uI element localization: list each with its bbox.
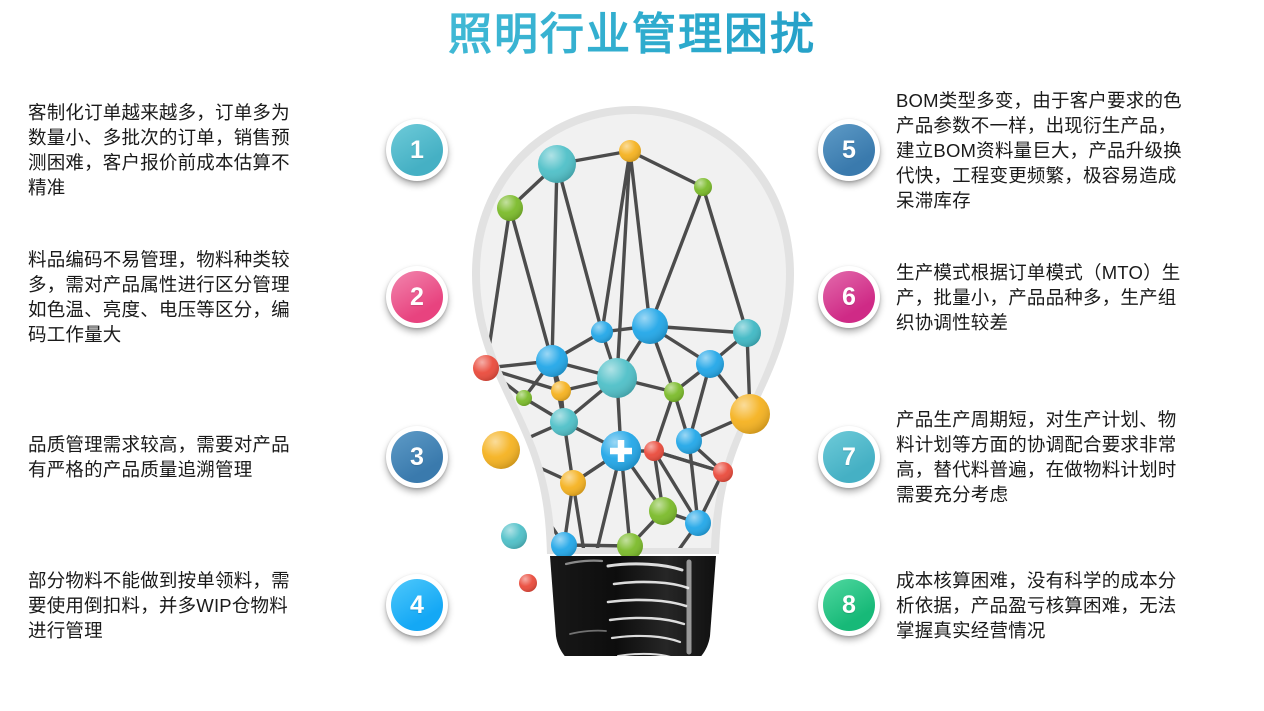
item-text: 生产模式根据订单模式（MTO）生 产，批量小，产品品种多，生产组 织协调性较差 xyxy=(880,260,1258,335)
number-badge-6[interactable]: 6 xyxy=(818,266,880,328)
list-item: 8 成本核算困难，没有科学的成本分 析依据，产品盈亏核算困难，无法 掌握真实经营… xyxy=(818,530,1258,680)
item-text: 成本核算困难，没有科学的成本分 析依据，产品盈亏核算困难，无法 掌握真实经营情况 xyxy=(880,568,1258,643)
number-badge-2[interactable]: 2 xyxy=(386,266,448,328)
number-badge-1[interactable]: 1 xyxy=(386,119,448,181)
badge-number: 2 xyxy=(391,271,443,323)
list-item: 料品编码不易管理，物料种类较 多，需对产品属性进行区分管理 如色温、亮度、电压等… xyxy=(28,222,448,372)
list-item: 5 BOM类型多变，由于客户要求的色 产品参数不一样，出现衍生产品， 建立BOM… xyxy=(818,75,1258,225)
item-text: 料品编码不易管理，物料种类较 多，需对产品属性进行区分管理 如色温、亮度、电压等… xyxy=(28,247,386,347)
list-item: 7 产品生产周期短，对生产计划、物 料计划等方面的协调配合要求非常 高，替代料普… xyxy=(818,382,1258,532)
list-item: 品质管理需求较高，需要对产品 有严格的产品质量追溯管理 3 xyxy=(28,382,448,532)
item-text: 品质管理需求较高，需要对产品 有严格的产品质量追溯管理 xyxy=(28,432,386,482)
lightbulb-svg xyxy=(458,96,808,656)
lightbulb-network-graphic xyxy=(458,96,808,656)
right-column: 5 BOM类型多变，由于客户要求的色 产品参数不一样，出现衍生产品， 建立BOM… xyxy=(818,0,1258,711)
badge-number: 4 xyxy=(391,579,443,631)
number-badge-4[interactable]: 4 xyxy=(386,574,448,636)
badge-number: 3 xyxy=(391,431,443,483)
badge-number: 7 xyxy=(823,431,875,483)
badge-number: 8 xyxy=(823,579,875,631)
list-item: 客制化订单越来越多，订单多为 数量小、多批次的订单，销售预 测困难，客户报价前成… xyxy=(28,75,448,225)
left-column: 客制化订单越来越多，订单多为 数量小、多批次的订单，销售预 测困难，客户报价前成… xyxy=(28,0,448,711)
bulb-screw-base xyxy=(550,556,716,656)
item-text: 部分物料不能做到按单领料，需 要使用倒扣料，并多WIP仓物料 进行管理 xyxy=(28,568,386,643)
number-badge-3[interactable]: 3 xyxy=(386,426,448,488)
number-badge-8[interactable]: 8 xyxy=(818,574,880,636)
badge-number: 6 xyxy=(823,271,875,323)
badge-number: 5 xyxy=(823,124,875,176)
item-text: 产品生产周期短，对生产计划、物 料计划等方面的协调配合要求非常 高，替代料普遍，… xyxy=(880,407,1258,507)
list-item: 6 生产模式根据订单模式（MTO）生 产，批量小，产品品种多，生产组 织协调性较… xyxy=(818,222,1258,372)
badge-number: 1 xyxy=(391,124,443,176)
item-text: 客制化订单越来越多，订单多为 数量小、多批次的订单，销售预 测困难，客户报价前成… xyxy=(28,100,386,200)
number-badge-7[interactable]: 7 xyxy=(818,426,880,488)
number-badge-5[interactable]: 5 xyxy=(818,119,880,181)
list-item: 部分物料不能做到按单领料，需 要使用倒扣料，并多WIP仓物料 进行管理 4 xyxy=(28,530,448,680)
plus-icon-node xyxy=(601,431,641,471)
item-text: BOM类型多变，由于客户要求的色 产品参数不一样，出现衍生产品， 建立BOM资料… xyxy=(880,88,1258,213)
